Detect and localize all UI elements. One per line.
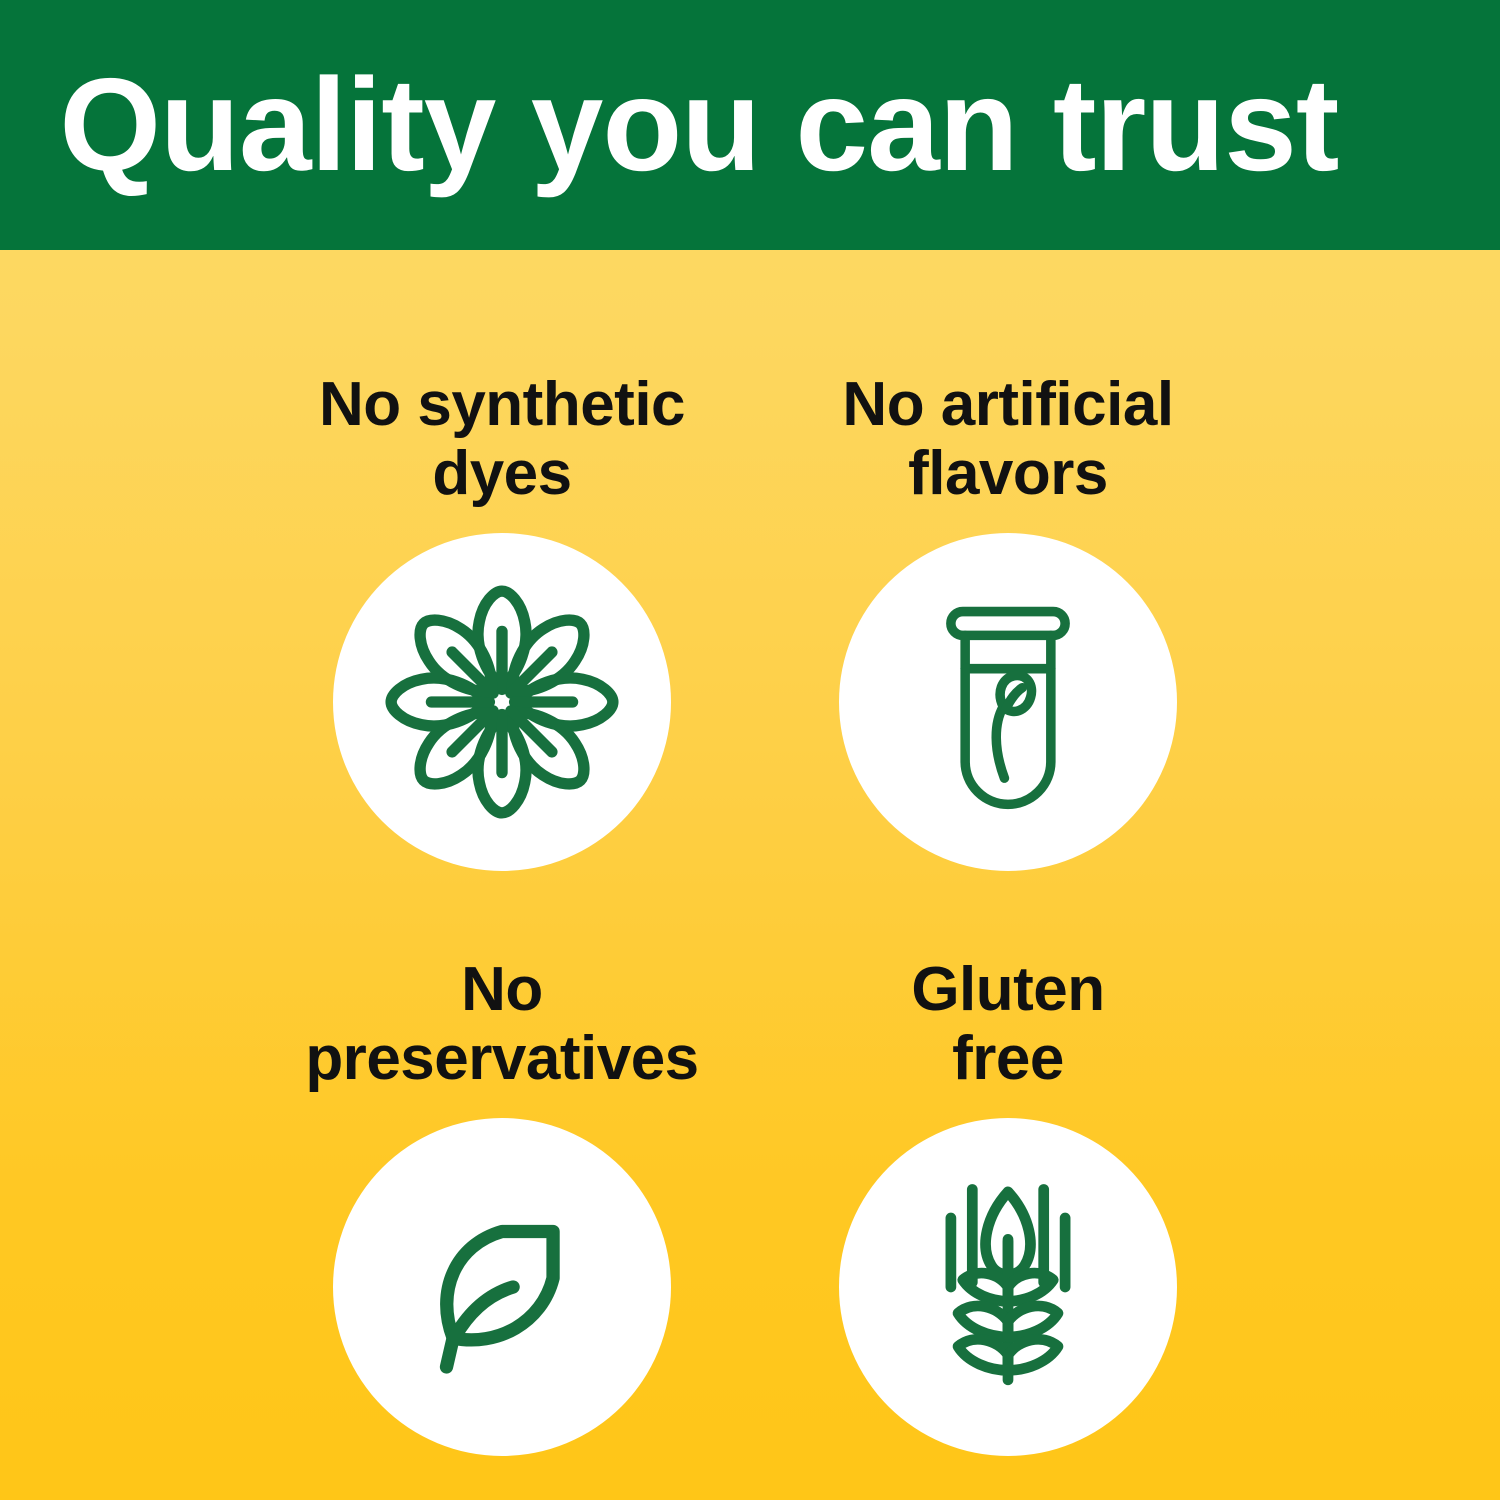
claim-gluten-free: Gluten free <box>778 955 1238 1456</box>
claim-badge <box>839 1118 1177 1456</box>
claim-no-synthetic-dyes: No synthetic dyes <box>272 370 732 871</box>
header-banner: Quality you can trust <box>0 0 1500 250</box>
claim-label: No preservatives <box>305 955 698 1094</box>
claim-label: No synthetic dyes <box>319 370 685 509</box>
promo-graphic: Quality you can trust No synthetic dyes <box>0 0 1500 1500</box>
claim-no-preservatives: No preservatives <box>272 955 732 1456</box>
claim-no-artificial-flavors: No artificial flavors <box>778 370 1238 871</box>
claims-grid: No synthetic dyes <box>0 250 1500 1500</box>
flower-petals-icon <box>376 576 628 828</box>
test-tube-sprout-icon <box>889 583 1127 821</box>
page-title: Quality you can trust <box>0 59 1338 191</box>
leaf-icon <box>391 1176 613 1398</box>
claim-badge <box>333 533 671 871</box>
claim-badge <box>333 1118 671 1456</box>
claim-label: No artificial flavors <box>842 370 1173 509</box>
claim-label: Gluten free <box>911 955 1104 1094</box>
claim-badge <box>839 533 1177 871</box>
wheat-stalk-icon <box>889 1168 1127 1406</box>
